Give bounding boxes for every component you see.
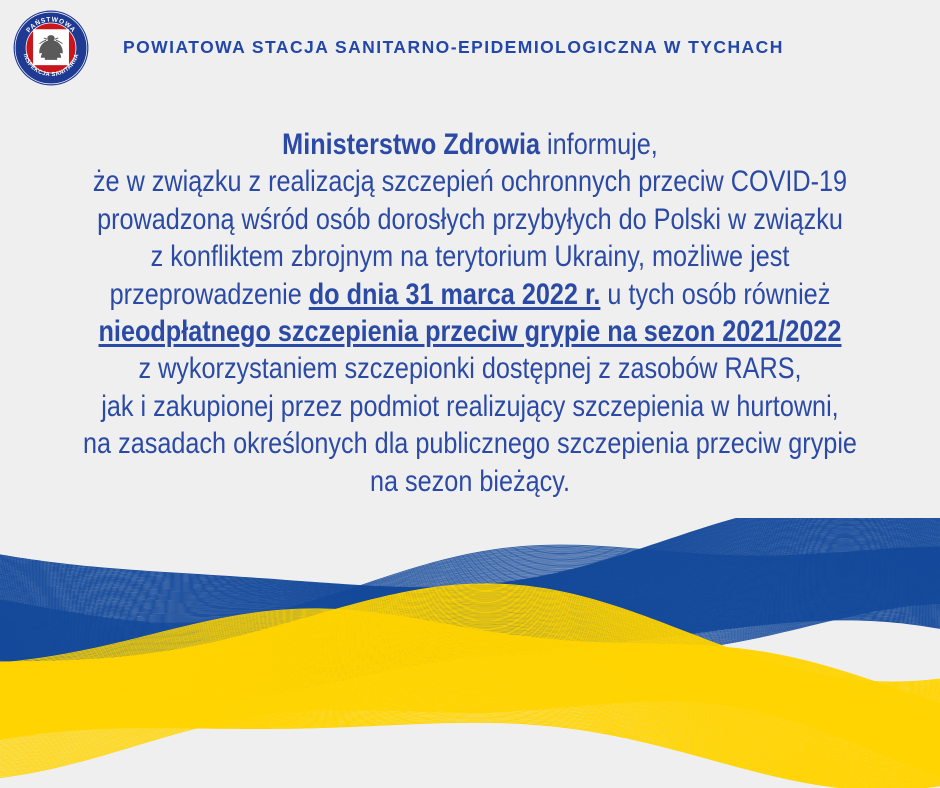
announcement-line: jak i zakupionej przez podmiot realizują… [68,388,872,425]
announcement-line: z wykorzystaniem szczepionki dostępnej z… [68,350,872,387]
text-segment: do dnia 31 marca 2022 r. [309,278,601,311]
announcement-line: przeprowadzenie do dnia 31 marca 2022 r.… [68,276,872,313]
text-segment: prowadzoną wśród osób dorosłych przybyły… [97,203,843,236]
announcement-line: nieodpłatnego szczepienia przeciw grypie… [68,313,872,350]
text-segment: z konfliktem zbrojnym na terytorium Ukra… [151,240,790,273]
text-segment: nieodpłatnego szczepienia przeciw grypie… [99,315,842,348]
wave-line-group [0,518,940,788]
announcement-text: Ministerstwo Zdrowia informuje,że w zwią… [0,126,940,500]
announcement-line: na zasadach określonych dla publicznego … [68,425,872,462]
wave-svg [0,518,940,788]
text-segment: na zasadach określonych dla publicznego … [83,427,857,460]
ukraine-flag-wave-graphic [0,518,940,788]
text-segment: że w związku z realizacją szczepień ochr… [93,165,847,198]
announcement-line: z konfliktem zbrojnym na terytorium Ukra… [68,238,872,275]
text-segment: u tych osób również [600,278,830,311]
text-segment: Ministerstwo Zdrowia [282,128,540,161]
text-segment: jak i zakupionej przez podmiot realizują… [101,390,838,423]
announcement-line: Ministerstwo Zdrowia informuje, [68,126,872,163]
panstwowa-inspekcja-sanitarna-logo: PAŃSTWOWA INSPEKCJA SANITARNA [12,9,90,87]
text-segment: z wykorzystaniem szczepionki dostępnej z… [138,352,801,385]
header-bar: PAŃSTWOWA INSPEKCJA SANITARNA POWIATOWA … [0,0,940,95]
text-segment: na sezon bieżący. [370,465,570,498]
announcement-line: na sezon bieżący. [68,463,872,500]
poster-canvas: PAŃSTWOWA INSPEKCJA SANITARNA POWIATOWA … [0,0,940,788]
text-segment: przeprowadzenie [110,278,309,311]
organization-title: POWIATOWA STACJA SANITARNO-EPIDEMIOLOGIC… [123,38,784,57]
announcement-line: że w związku z realizacją szczepień ochr… [68,163,872,200]
text-segment: informuje, [540,128,658,161]
announcement-line: prowadzoną wśród osób dorosłych przybyły… [68,201,872,238]
